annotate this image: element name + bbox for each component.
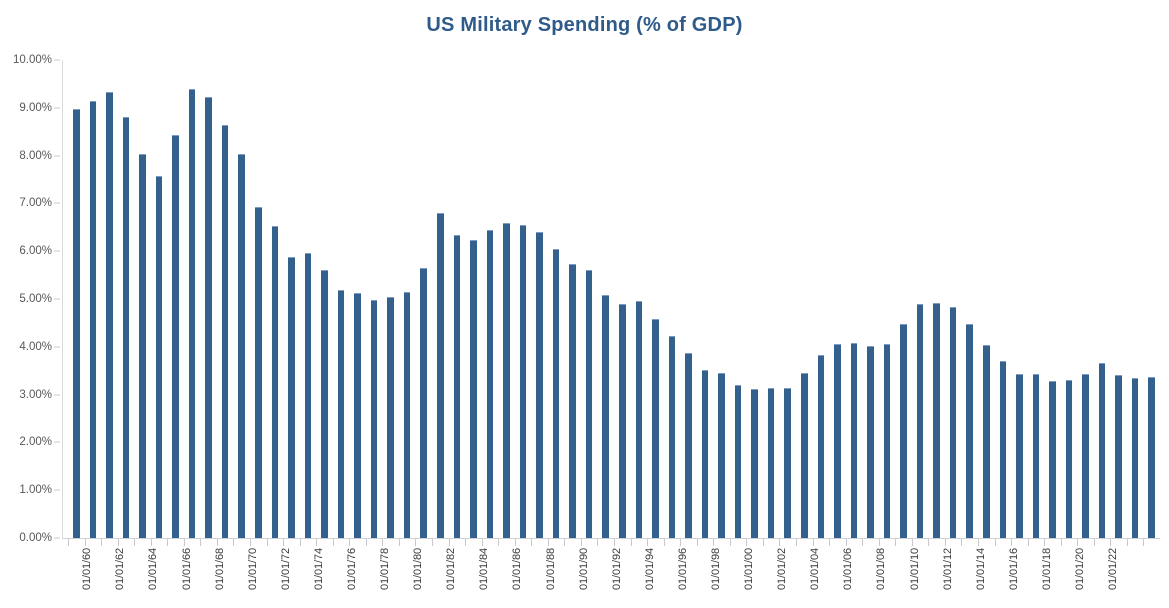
bar[interactable] [619, 304, 626, 538]
y-axis-tick-label: 8.00% [19, 150, 52, 162]
x-axis-tick-mark [482, 539, 483, 546]
x-axis-tick-mark [548, 539, 549, 546]
bar[interactable] [255, 207, 262, 538]
bar[interactable] [834, 344, 841, 538]
bar[interactable] [1066, 380, 1073, 538]
x-axis-tick-label: 01/01/94 [644, 548, 656, 590]
y-axis-tick-mark [54, 442, 60, 443]
x-axis-tick-mark [184, 539, 185, 546]
x-axis-tick-mark [349, 539, 350, 546]
x-axis-tick-mark [333, 539, 334, 546]
bar[interactable] [1115, 375, 1122, 538]
x-axis-tick-label: 01/01/90 [578, 548, 590, 590]
y-axis-tick-mark [54, 538, 60, 539]
bar[interactable] [735, 385, 742, 538]
bar[interactable] [404, 292, 411, 538]
x-axis-tick-mark [697, 539, 698, 546]
x-axis-tick-mark [382, 539, 383, 546]
x-axis-tick-mark [995, 539, 996, 546]
x-axis-tick-mark [664, 539, 665, 546]
bar[interactable] [950, 307, 957, 538]
bar[interactable] [900, 324, 907, 538]
x-axis-tick-label: 01/01/82 [445, 548, 457, 590]
x-axis-tick-label: 01/01/08 [875, 548, 887, 590]
bar[interactable] [222, 125, 229, 538]
y-axis-line [62, 60, 63, 539]
x-axis-tick-mark [796, 539, 797, 546]
bar[interactable] [454, 235, 461, 538]
x-axis-tick-mark [200, 539, 201, 546]
bar[interactable] [553, 249, 560, 538]
bar[interactable] [139, 154, 146, 538]
y-axis-tick-label: 6.00% [19, 245, 52, 257]
bar[interactable] [371, 300, 378, 538]
x-axis-tick-label: 01/01/72 [280, 548, 292, 590]
bar[interactable] [387, 297, 394, 538]
x-axis-tick-mark [730, 539, 731, 546]
bar[interactable] [917, 304, 924, 538]
x-axis-tick-label: 01/01/74 [313, 548, 325, 590]
bar[interactable] [354, 293, 361, 538]
x-axis-tick-mark [399, 539, 400, 546]
x-axis-tick-mark [432, 539, 433, 546]
bar[interactable] [685, 353, 692, 538]
bar[interactable] [784, 388, 791, 538]
x-axis-tick-label: 01/01/20 [1074, 548, 1086, 590]
bar[interactable] [1033, 374, 1040, 538]
x-axis-tick-mark [267, 539, 268, 546]
bar[interactable] [966, 324, 973, 538]
x-axis-tick-mark [978, 539, 979, 546]
x-axis-tick-mark [1077, 539, 1078, 546]
bar[interactable] [420, 268, 427, 538]
x-axis-tick-mark [1028, 539, 1029, 546]
x-axis-tick-label: 01/01/96 [677, 548, 689, 590]
x-axis-tick-mark [846, 539, 847, 546]
y-axis-tick-label: 3.00% [19, 389, 52, 401]
x-axis-tick-mark [515, 539, 516, 546]
y-axis: 0.00%1.00%2.00%3.00%4.00%5.00%6.00%7.00%… [0, 60, 62, 538]
bar[interactable] [470, 240, 477, 538]
bar[interactable] [1082, 374, 1089, 538]
x-axis-tick-mark [1011, 539, 1012, 546]
bar[interactable] [487, 230, 494, 538]
bar[interactable] [536, 232, 543, 538]
bar[interactable] [1148, 377, 1155, 538]
y-axis-tick-label: 1.00% [19, 484, 52, 496]
x-axis-tick-mark [316, 539, 317, 546]
bar[interactable] [156, 176, 163, 538]
x-axis-tick-mark [763, 539, 764, 546]
x-axis-tick-mark [250, 539, 251, 546]
bar[interactable] [636, 301, 643, 538]
x-axis-tick-mark [912, 539, 913, 546]
x-axis-tick-mark [879, 539, 880, 546]
x-axis-tick-label: 01/01/78 [379, 548, 391, 590]
x-axis-tick-label: 01/01/76 [346, 548, 358, 590]
bar[interactable] [884, 344, 891, 538]
bar[interactable] [520, 225, 527, 538]
x-axis-tick-mark [233, 539, 234, 546]
bar[interactable] [123, 117, 130, 538]
x-axis-tick-mark [217, 539, 218, 546]
bar[interactable] [437, 213, 444, 538]
x-axis-tick-mark [945, 539, 946, 546]
x-axis-tick-mark [415, 539, 416, 546]
x-axis-tick-mark [498, 539, 499, 546]
y-axis-tick-label: 2.00% [19, 436, 52, 448]
x-axis-tick-mark [68, 539, 69, 546]
x-axis-tick-mark [300, 539, 301, 546]
bar[interactable] [338, 290, 345, 538]
y-axis-tick-mark [54, 394, 60, 395]
bar[interactable] [1099, 363, 1106, 538]
y-axis-tick-mark [54, 155, 60, 156]
bar[interactable] [1132, 378, 1139, 538]
x-axis-tick-mark [1143, 539, 1144, 546]
bar[interactable] [205, 97, 212, 538]
bar[interactable] [1049, 381, 1056, 538]
x-axis-tick-mark [597, 539, 598, 546]
bar[interactable] [321, 270, 328, 538]
bar[interactable] [851, 343, 858, 539]
x-axis-tick-label: 01/01/60 [81, 548, 93, 590]
y-axis-tick-mark [54, 251, 60, 252]
y-axis-tick-label: 5.00% [19, 293, 52, 305]
bar[interactable] [768, 388, 775, 538]
x-axis-tick-mark [895, 539, 896, 546]
bar[interactable] [867, 346, 874, 538]
y-axis-tick-mark [54, 346, 60, 347]
x-axis-tick-mark [928, 539, 929, 546]
x-axis-tick-label: 01/01/04 [809, 548, 821, 590]
x-axis-tick-mark [961, 539, 962, 546]
x-axis-tick-label: 01/01/68 [214, 548, 226, 590]
bar[interactable] [702, 370, 709, 538]
x-axis-tick-label: 01/01/02 [776, 548, 788, 590]
bar[interactable] [272, 226, 279, 538]
x-axis-tick-mark [1044, 539, 1045, 546]
x-axis-tick-mark [449, 539, 450, 546]
bar[interactable] [818, 355, 825, 538]
x-axis-tick-label: 01/01/66 [181, 548, 193, 590]
x-axis-tick-mark [167, 539, 168, 546]
bar[interactable] [90, 101, 97, 538]
bar[interactable] [288, 257, 295, 538]
x-axis: 01/01/6001/01/6201/01/6401/01/6601/01/68… [68, 548, 1160, 608]
y-axis-tick-label: 0.00% [19, 532, 52, 544]
x-axis-tick-label: 01/01/88 [545, 548, 557, 590]
x-axis-tick-mark [614, 539, 615, 546]
y-axis-tick-mark [54, 60, 60, 61]
x-axis-tick-mark [1061, 539, 1062, 546]
x-axis-tick-mark [680, 539, 681, 546]
x-axis-tick-label: 01/01/06 [842, 548, 854, 590]
x-axis-tick-label: 01/01/00 [743, 548, 755, 590]
x-axis-tick-mark [1094, 539, 1095, 546]
bar[interactable] [718, 373, 725, 538]
y-axis-tick-label: 9.00% [19, 102, 52, 114]
y-axis-tick-label: 10.00% [13, 54, 52, 66]
x-axis-tick-mark [647, 539, 648, 546]
bar[interactable] [983, 345, 990, 538]
x-axis-tick-mark [564, 539, 565, 546]
x-axis-tick-label: 01/01/62 [114, 548, 126, 590]
bar[interactable] [172, 135, 179, 538]
x-axis-tick-mark [283, 539, 284, 546]
x-axis-tick-mark [779, 539, 780, 546]
x-axis-tick-mark [829, 539, 830, 546]
x-axis-tick-mark [1127, 539, 1128, 546]
x-axis-tick-label: 01/01/22 [1107, 548, 1119, 590]
bar[interactable] [189, 89, 196, 538]
x-axis-tick-mark [134, 539, 135, 546]
bar[interactable] [1000, 361, 1007, 538]
chart-container: US Military Spending (% of GDP) 0.00%1.0… [0, 0, 1169, 608]
x-axis-tick-label: 01/01/64 [147, 548, 159, 590]
x-axis-tick-mark [1110, 539, 1111, 546]
y-axis-tick-label: 7.00% [19, 197, 52, 209]
x-axis-tick-label: 01/01/86 [511, 548, 523, 590]
x-axis-tick-label: 01/01/98 [710, 548, 722, 590]
bar[interactable] [933, 303, 940, 538]
bar[interactable] [238, 154, 245, 538]
x-axis-tick-label: 01/01/12 [942, 548, 954, 590]
y-axis-tick-mark [54, 107, 60, 108]
bar[interactable] [305, 253, 312, 538]
bar[interactable] [602, 295, 609, 538]
bar[interactable] [106, 92, 113, 538]
x-axis-tick-mark [862, 539, 863, 546]
x-axis-tick-mark [631, 539, 632, 546]
x-axis-tick-mark [581, 539, 582, 546]
x-axis-tick-mark [813, 539, 814, 546]
bar[interactable] [503, 223, 510, 538]
bar[interactable] [586, 270, 593, 538]
bar[interactable] [569, 264, 576, 538]
y-axis-tick-label: 4.00% [19, 341, 52, 353]
y-axis-tick-mark [54, 203, 60, 204]
y-axis-tick-mark [54, 490, 60, 491]
bar[interactable] [1016, 374, 1023, 538]
bar[interactable] [751, 389, 758, 538]
bar[interactable] [669, 336, 676, 538]
x-axis-tick-mark [101, 539, 102, 546]
x-axis-tick-label: 01/01/16 [1008, 548, 1020, 590]
x-axis-tick-label: 01/01/70 [247, 548, 259, 590]
x-axis-tick-mark [151, 539, 152, 546]
x-axis-tick-mark [746, 539, 747, 546]
x-axis-tick-mark [465, 539, 466, 546]
x-axis-tick-label: 01/01/80 [412, 548, 424, 590]
x-axis-tick-label: 01/01/14 [975, 548, 987, 590]
bar[interactable] [652, 319, 659, 538]
x-axis-tick-label: 01/01/84 [478, 548, 490, 590]
x-axis-tick-mark [713, 539, 714, 546]
x-axis-tick-mark [531, 539, 532, 546]
x-axis-tick-label: 01/01/18 [1041, 548, 1053, 590]
y-axis-tick-mark [54, 299, 60, 300]
bar[interactable] [73, 109, 80, 538]
x-axis-tick-mark [85, 539, 86, 546]
x-axis-tick-mark [366, 539, 367, 546]
bar[interactable] [801, 373, 808, 538]
chart-title: US Military Spending (% of GDP) [0, 14, 1169, 37]
x-axis-tick-mark [118, 539, 119, 546]
plot-area [68, 60, 1160, 538]
x-axis-tick-label: 01/01/92 [611, 548, 623, 590]
x-axis-tick-label: 01/01/10 [909, 548, 921, 590]
